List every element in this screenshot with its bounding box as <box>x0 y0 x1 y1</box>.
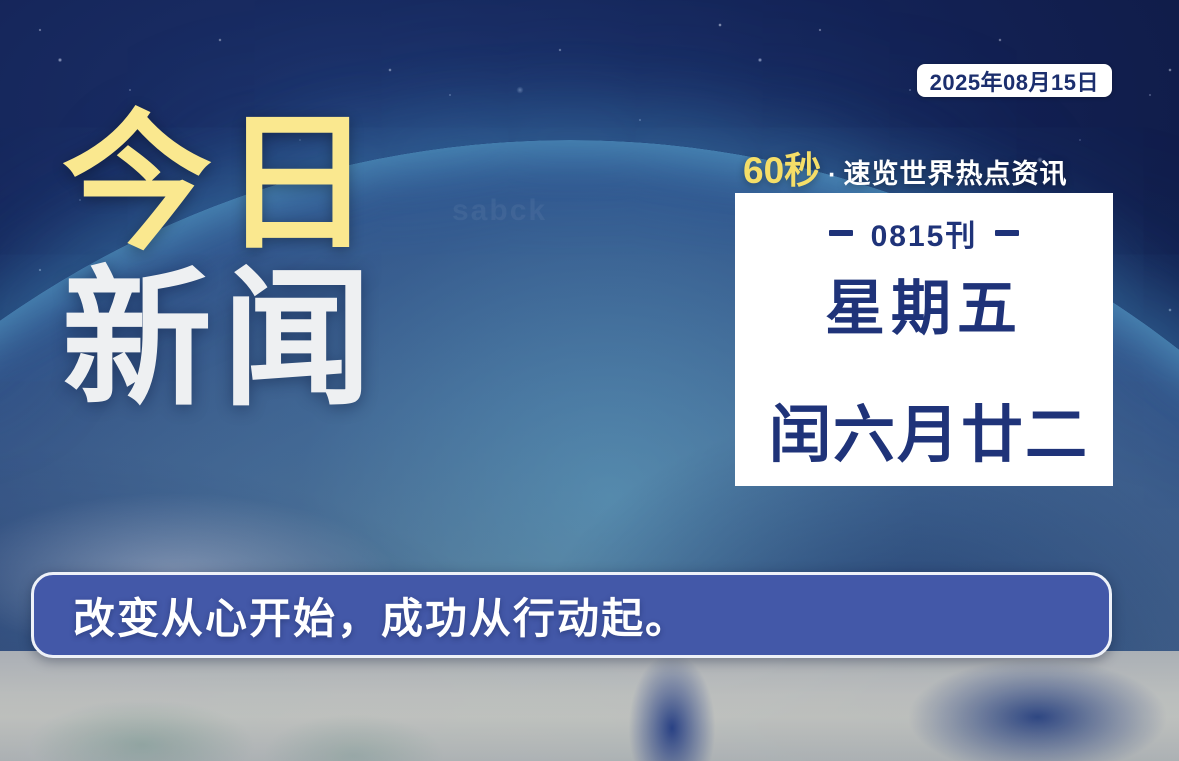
issue-dash-left-icon <box>829 230 853 236</box>
tagline: 60秒 · 速览世界热点资讯 <box>735 140 1113 188</box>
tagline-60s: 60秒 <box>743 140 821 194</box>
tagline-separator-dot: · <box>823 161 841 190</box>
earth-surface-strip-tint <box>0 651 1179 761</box>
title-line-news: 新闻 <box>62 252 482 426</box>
issue-dash-right-icon <box>995 230 1019 236</box>
quote-text: 改变从心开始，成功从行动起。 <box>73 585 689 646</box>
date-badge: 2025年08月15日 <box>917 64 1112 97</box>
quote-banner: 改变从心开始，成功从行动起。 <box>31 572 1112 658</box>
issue-card: 0815刊 星期五 闰六月廿二 <box>735 193 1113 486</box>
right-info-panel: 60秒 · 速览世界热点资讯 0815刊 星期五 闰六月廿二 <box>735 140 1113 486</box>
tagline-description: 速览世界热点资讯 <box>843 152 1067 191</box>
issue-label: 0815刊 <box>871 211 978 255</box>
lunar-date-label: 闰六月廿二 <box>769 403 1089 468</box>
page-title: 今日 新闻 <box>62 96 482 426</box>
title-line-today: 今日 <box>62 96 482 270</box>
issue-row: 0815刊 <box>829 211 1020 255</box>
weekday-label: 星期五 <box>825 277 1023 340</box>
news-poster: sabck 2025年08月15日 今日 新闻 60秒 · 速览世界热点资讯 0… <box>0 0 1179 761</box>
